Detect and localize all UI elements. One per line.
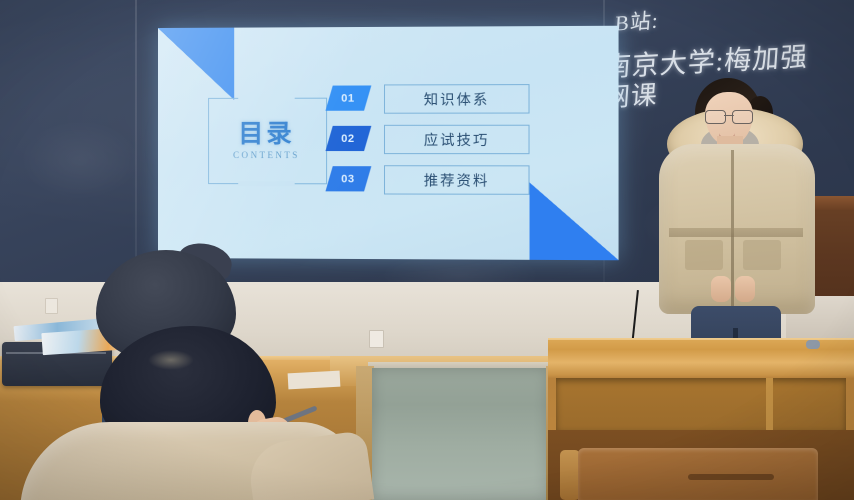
glasses-icon <box>705 110 753 122</box>
agenda-label: 知识体系 <box>424 89 490 109</box>
agenda-item: 01 知识体系 <box>329 85 585 116</box>
agenda-item: 02 应试技巧 <box>329 126 585 157</box>
classroom-scene: B站: 南京大学:梅加强 网课 目录 CONTENTS 01 知识体系 <box>0 0 854 500</box>
slide-subtitle: CONTENTS <box>208 150 325 160</box>
agenda-box-02: 应试技巧 <box>384 125 530 154</box>
agenda-label: 推荐资料 <box>424 170 490 190</box>
agenda-label: 应试技巧 <box>424 129 490 149</box>
student-foreground <box>20 326 380 500</box>
contents-frame-gap <box>238 181 294 186</box>
parka-waist-drawstring <box>669 228 803 237</box>
contents-frame-gap <box>238 96 294 101</box>
agenda-badge-number: 01 <box>342 92 355 104</box>
shelf-divider <box>766 378 773 430</box>
wall-outlet-icon <box>45 298 58 314</box>
blackboard-seam-left <box>135 0 137 292</box>
agenda-badge-number: 03 <box>342 173 355 185</box>
parka-pocket-right <box>743 240 781 270</box>
slide-contents-heading: 目录 CONTENTS <box>208 98 329 185</box>
agenda-box-03: 推荐资料 <box>384 165 530 195</box>
parka-pocket-left <box>685 240 723 270</box>
agenda-item: 03 推荐资料 <box>329 166 585 197</box>
chair-armrest <box>560 450 580 500</box>
desk-small-object <box>806 340 820 349</box>
teacher-figure <box>655 78 825 346</box>
slide-agenda-list: 01 知识体系 02 应试技巧 03 推荐资料 <box>329 85 585 207</box>
slide-corner-top-left <box>158 28 234 100</box>
right-desk-shelf <box>556 378 846 430</box>
agenda-badge-03: 03 <box>325 166 371 191</box>
chalk-smudge <box>20 120 140 200</box>
agenda-badge-02: 02 <box>325 126 371 151</box>
agenda-badge-number: 02 <box>342 132 355 144</box>
agenda-box-01: 知识体系 <box>384 84 530 114</box>
agenda-badge-01: 01 <box>325 85 371 110</box>
pen-icon <box>282 405 317 423</box>
teacher-hand-right <box>735 276 755 302</box>
teacher-hand-left <box>711 276 731 302</box>
chair-handle-slot <box>688 474 774 480</box>
presentation-slide: 目录 CONTENTS 01 知识体系 02 应试技巧 <box>158 26 619 261</box>
hair-highlight <box>148 350 194 370</box>
slide-title: 目录 <box>208 114 325 150</box>
glasses-lens-right <box>732 110 753 124</box>
chalk-line-bilibili: B站: <box>614 4 660 37</box>
glasses-lens-left <box>705 110 726 124</box>
lectern-panel <box>372 368 548 500</box>
